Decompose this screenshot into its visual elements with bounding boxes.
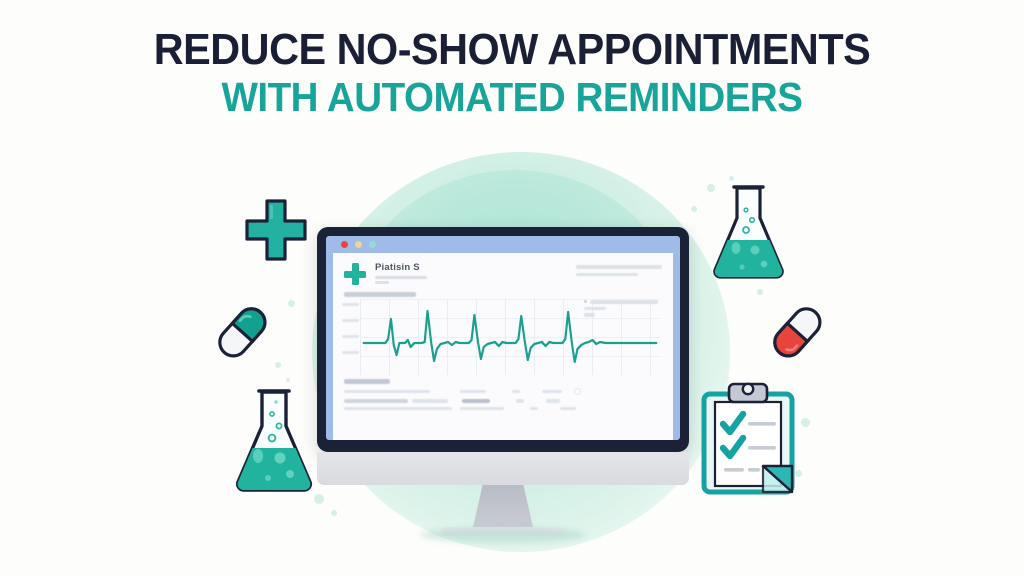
ecg-chart: [342, 299, 664, 375]
chart-y-axis-labels: [342, 303, 359, 367]
status-dot-placeholder: [574, 388, 581, 395]
erlenmeyer-flask-icon: [228, 382, 320, 496]
clipboard-checklist-icon: [693, 378, 803, 498]
maximize-dot[interactable]: [369, 241, 376, 248]
close-dot[interactable]: [341, 241, 348, 248]
chart-section-label-placeholder: [344, 292, 416, 297]
cell-placeholder: [462, 399, 490, 403]
patient-title-block: Piatisin S: [375, 261, 567, 284]
medical-cross-svg: [243, 197, 309, 263]
dashboard-header: Piatisin S: [333, 253, 673, 285]
cell-placeholder: [460, 390, 486, 394]
y-tick-placeholder: [342, 319, 359, 322]
placeholder-bar: [584, 313, 595, 317]
y-tick-placeholder: [342, 351, 359, 354]
monitor-neck: [473, 485, 533, 527]
cell-placeholder: [542, 390, 562, 394]
monitor-screen: Piatisin S: [326, 236, 680, 440]
header-placeholder-bars: [576, 261, 662, 276]
capsule-pill-red-icon: [757, 297, 837, 367]
placeholder-bar: [584, 307, 606, 311]
legend-dot: [584, 300, 587, 303]
medical-cross-icon: [344, 263, 366, 285]
cell-placeholder: [512, 390, 520, 394]
decor-bubble: [288, 300, 295, 307]
table-row: [344, 407, 662, 411]
monitor-chin: [317, 452, 689, 485]
capsule-pill-teal-svg: [202, 297, 282, 367]
patient-dashboard-app: Piatisin S: [333, 253, 673, 440]
erlenmeyer-flask-svg: [706, 176, 792, 282]
cell-placeholder: [560, 407, 576, 411]
erlenmeyer-flask-svg: [228, 382, 320, 496]
minimize-dot[interactable]: [355, 241, 362, 248]
erlenmeyer-flask-icon: [706, 176, 792, 282]
cell-placeholder: [530, 407, 538, 411]
cell-placeholder: [344, 399, 408, 403]
table-row: [344, 388, 662, 395]
table-row: [344, 399, 662, 403]
monitor-bezel: Piatisin S: [317, 227, 689, 452]
table-title-placeholder: [344, 379, 390, 384]
capsule-pill-red-svg: [757, 297, 837, 367]
desktop-monitor-illustration: Piatisin S: [317, 227, 689, 536]
capsule-pill-teal-icon: [202, 297, 282, 367]
legend-row: [584, 307, 658, 311]
y-tick-placeholder: [342, 303, 359, 306]
decor-bubble: [633, 186, 638, 191]
cell-placeholder: [344, 407, 452, 411]
monitor-shadow: [420, 527, 586, 543]
cell-placeholder: [460, 407, 504, 411]
patient-meta-placeholder: [375, 281, 389, 284]
decor-bubble: [757, 289, 763, 295]
placeholder-bar: [576, 273, 638, 277]
legend-row: [584, 300, 658, 304]
page-title: REDUCE NO-SHOW APPOINTMENTS WITH AUTOMAT…: [0, 28, 1024, 119]
medical-cross-icon: [243, 197, 309, 263]
browser-titlebar: [333, 236, 673, 253]
patient-name-label: Piatisin S: [375, 262, 567, 273]
cell-placeholder: [412, 399, 448, 403]
clipboard-checklist-svg: [693, 378, 803, 498]
headline-line-1: REDUCE NO-SHOW APPOINTMENTS: [31, 28, 994, 73]
cell-placeholder: [546, 399, 560, 403]
decor-bubble: [691, 206, 697, 212]
patient-records-table: [344, 379, 662, 410]
placeholder-bar: [576, 265, 662, 269]
decor-bubble: [331, 510, 337, 516]
monitor-stand: [317, 452, 689, 536]
headline-line-2: WITH AUTOMATED REMINDERS: [31, 77, 994, 119]
cell-placeholder: [516, 399, 524, 403]
decor-bubble: [651, 214, 655, 218]
legend-row: [584, 313, 658, 317]
cell-placeholder: [344, 390, 430, 394]
patient-subtitle-placeholder: [375, 276, 427, 279]
chart-legend-panel-placeholder: [584, 300, 658, 320]
y-tick-placeholder: [342, 335, 359, 338]
placeholder-bar: [590, 300, 658, 304]
